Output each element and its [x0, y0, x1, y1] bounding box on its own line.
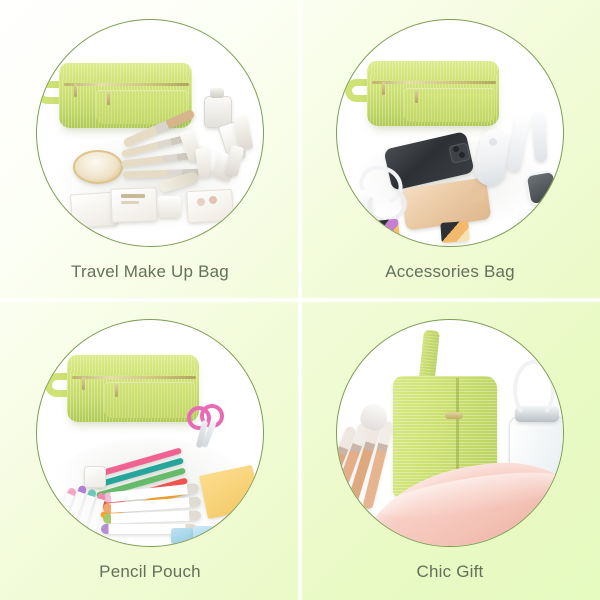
- scene-travel-make-up-bag: [37, 20, 263, 246]
- caption-accessories-bag: Accessories Bag: [300, 262, 600, 282]
- sachet-print: [121, 201, 139, 204]
- zipper-pull: [107, 92, 110, 105]
- smart-watch: [524, 170, 559, 207]
- green-toiletry-bag: [67, 356, 199, 422]
- palette-swatch: [197, 198, 205, 206]
- product-photo-circle-accessories-bag: [336, 19, 564, 247]
- pencil-sharpener: [84, 466, 106, 488]
- caption-travel-make-up-bag: Travel Make Up Bag: [0, 262, 300, 282]
- scene-chic-gift: [337, 320, 563, 546]
- scene-pencil-pouch: [37, 320, 263, 546]
- zipper-pull: [382, 82, 385, 95]
- phone-camera-lens: [453, 146, 459, 152]
- eraser: [171, 528, 193, 544]
- green-toiletry-bag: [367, 62, 499, 126]
- caption-pencil-pouch: Pencil Pouch: [0, 562, 300, 582]
- phone-camera-lens: [459, 152, 465, 158]
- bag-zipper: [64, 83, 189, 86]
- zipper-pull: [415, 90, 418, 103]
- product-photo-circle-chic-gift: [336, 319, 564, 547]
- caption-chic-gift: Chic Gift: [300, 562, 600, 582]
- cosmetic-sachets: [110, 187, 157, 223]
- bag-zipper: [72, 376, 196, 379]
- bag-lid: [68, 355, 198, 375]
- grid-cell-pencil-pouch[interactable]: Pencil Pouch: [0, 300, 300, 600]
- product-grid-canvas: Travel Make Up Bag: [0, 0, 600, 600]
- bag-front-pocket: [404, 88, 495, 122]
- zipper-pull: [74, 84, 77, 97]
- watch-band: [531, 112, 547, 163]
- eyeshadow-palette: [186, 189, 234, 223]
- yellow-notepad: [199, 465, 261, 519]
- eraser: [193, 526, 213, 542]
- bag-front-pocket: [104, 382, 195, 417]
- sachet-print: [121, 194, 145, 198]
- bag-zipper: [372, 81, 496, 84]
- bottle-strap-loop: [513, 360, 555, 420]
- zipper-pull: [115, 384, 118, 397]
- perfume-bottle-cap: [210, 88, 224, 98]
- grid-cell-chic-gift[interactable]: Chic Gift: [300, 300, 600, 600]
- zipper-pull: [82, 377, 85, 390]
- scene-accessories-bag: [337, 20, 563, 246]
- bag-lid: [60, 63, 191, 82]
- grid-cell-travel-make-up-bag[interactable]: Travel Make Up Bag: [0, 0, 300, 300]
- phone-camera-module: [469, 187, 485, 203]
- bag-lid: [368, 61, 498, 80]
- bag-clasp: [445, 412, 463, 419]
- memory-cards: [440, 221, 469, 243]
- grid-cell-accessories-bag[interactable]: Accessories Bag: [300, 0, 600, 300]
- powder-compact: [73, 150, 123, 184]
- cream-jar: [157, 196, 181, 218]
- palette-swatch: [209, 196, 217, 204]
- product-photo-circle-travel-make-up-bag: [36, 19, 264, 247]
- grid-divider-horizontal: [0, 297, 600, 303]
- product-photo-circle-pencil-pouch: [36, 319, 264, 547]
- earbuds-case: [519, 208, 545, 230]
- memory-cards: [370, 219, 400, 242]
